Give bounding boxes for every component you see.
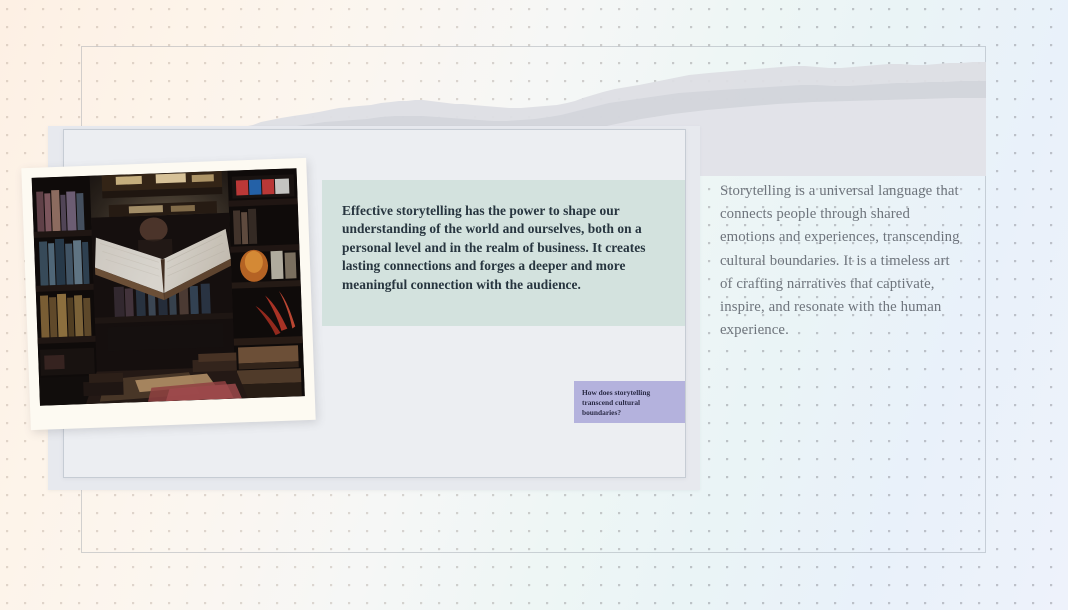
polaroid-photo-frame[interactable]	[21, 158, 315, 430]
bookstore-photo-svg	[32, 168, 305, 406]
quote-text: Effective storytelling has the power to …	[342, 202, 659, 294]
question-callout-text: How does storytelling transcend cultural…	[582, 388, 677, 419]
body-copy-text: Storytelling is a universal language tha…	[720, 180, 964, 342]
slide-stage: Effective storytelling has the power to …	[0, 0, 1068, 610]
open-book-floating-in-bookstore-photo	[32, 168, 305, 406]
question-callout-block[interactable]: How does storytelling transcend cultural…	[574, 381, 685, 423]
quote-highlight-block: Effective storytelling has the power to …	[322, 180, 685, 326]
body-copy-block: Storytelling is a universal language tha…	[720, 180, 964, 342]
